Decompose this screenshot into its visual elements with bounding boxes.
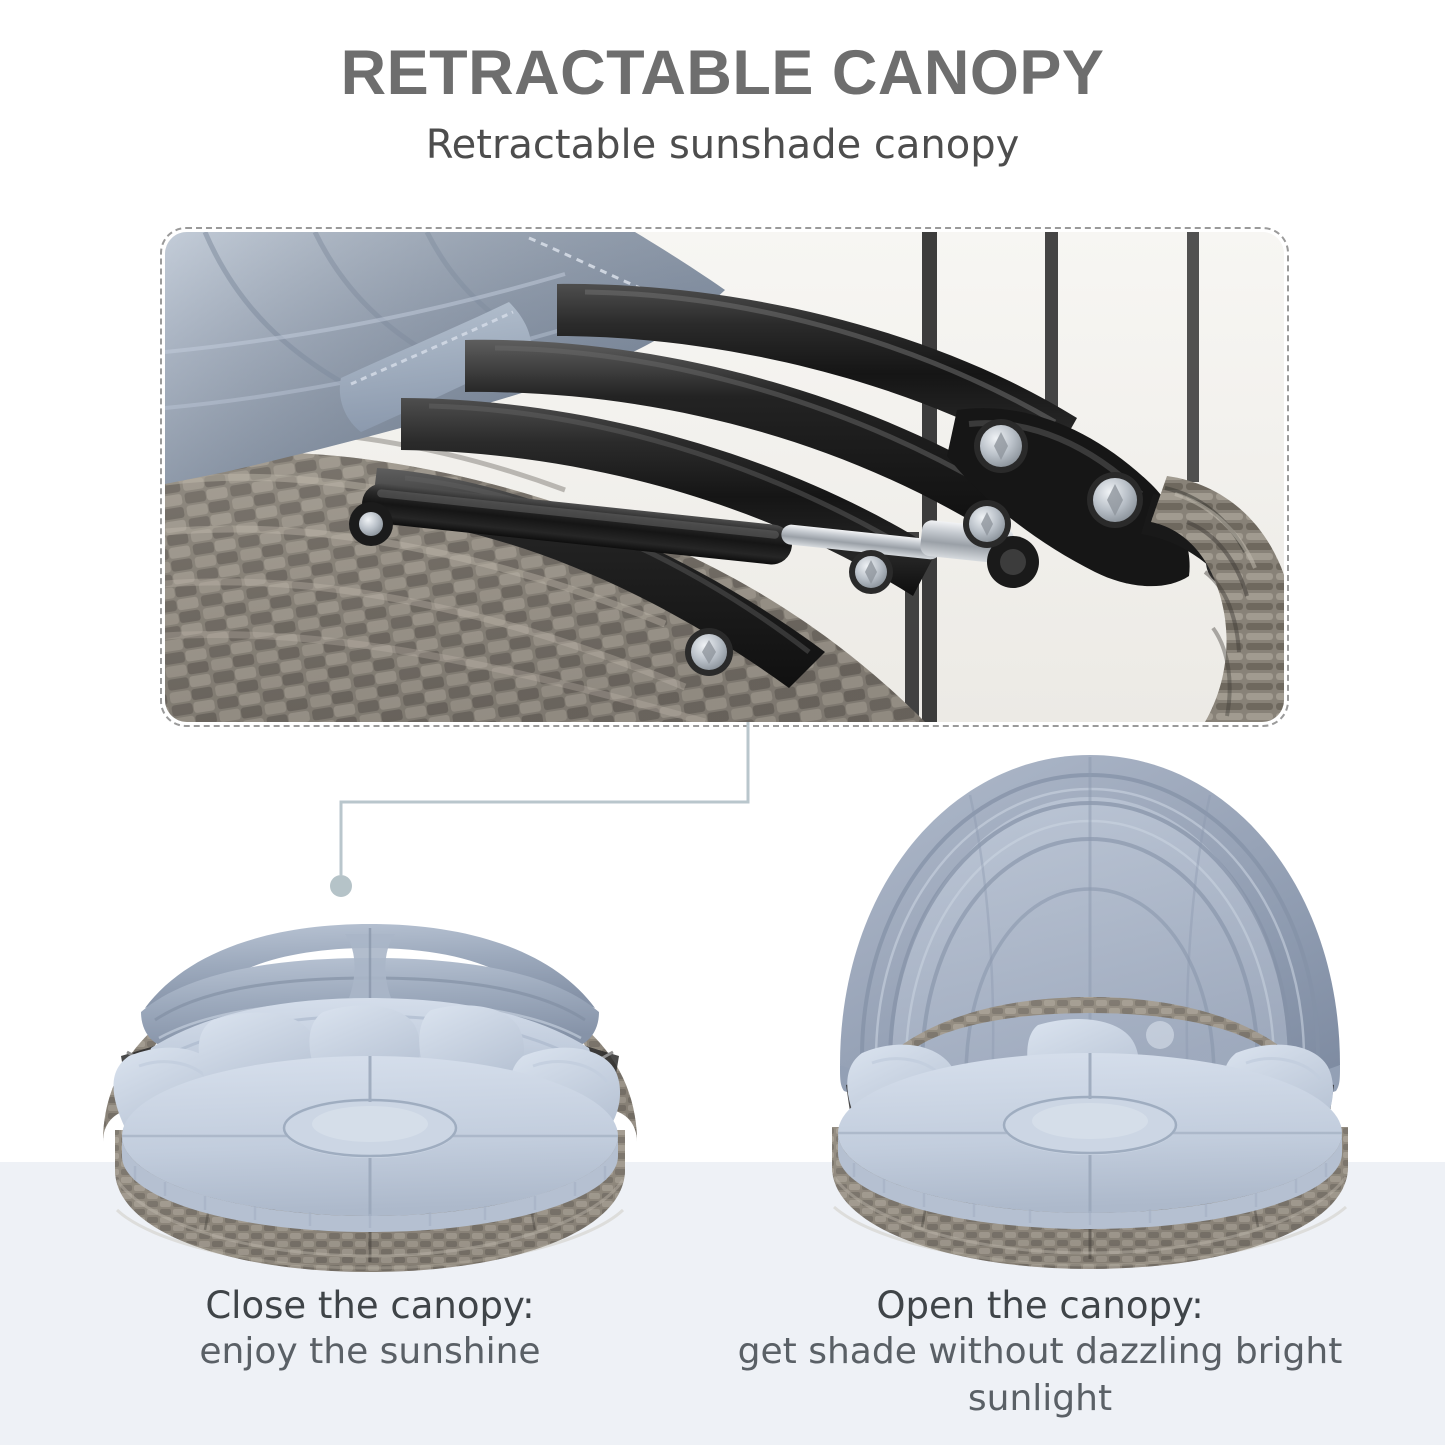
canopy-hinge-closeup-photo [165, 232, 1284, 722]
product-daybed-canopy-open [770, 735, 1410, 1280]
daybed-open-illustration [770, 735, 1410, 1280]
caption-open-body: get shade without dazzling bright sunlig… [700, 1329, 1380, 1423]
header: RETRACTABLE CANOPY Retractable sunshade … [0, 0, 1445, 165]
page-subtitle: Retractable sunshade canopy [0, 105, 1445, 165]
caption-closed-body: enjoy the sunshine [60, 1329, 680, 1376]
bolt [974, 419, 1028, 473]
seat-cushions [122, 1056, 618, 1232]
caption-open-head: Open the canopy: [700, 1282, 1380, 1329]
caption-closed: Close the canopy: enjoy the sunshine [60, 1282, 680, 1376]
bolt [685, 628, 733, 676]
bolt [1087, 472, 1143, 528]
caption-closed-head: Close the canopy: [60, 1282, 680, 1329]
bolt [849, 550, 893, 594]
connector-line [341, 722, 748, 875]
seat-cushions [838, 1053, 1342, 1229]
caption-open: Open the canopy: get shade without dazzl… [700, 1282, 1380, 1423]
canopy-mechanism-illustration [165, 232, 1284, 722]
background-bar [1187, 232, 1199, 482]
product-daybed-canopy-closed [55, 880, 685, 1280]
bolt [963, 500, 1011, 548]
daybed-closed-illustration [55, 880, 685, 1280]
page-title: RETRACTABLE CANOPY [0, 0, 1445, 105]
